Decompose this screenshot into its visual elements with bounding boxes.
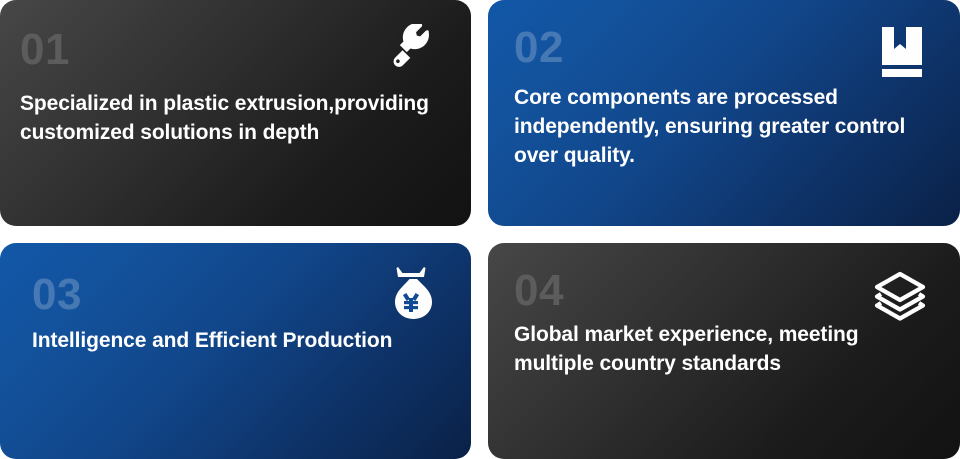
feature-card-03[interactable]: 03 Intelligence and Efficient Production xyxy=(0,243,471,459)
card-text-04: Global market experience, meeting multip… xyxy=(514,321,936,379)
card-text-01: Specialized in plastic extrusion,providi… xyxy=(20,90,440,148)
feature-card-04[interactable]: 04 Global market experience, meeting mul… xyxy=(488,243,960,459)
card-number-03: 03 xyxy=(32,273,447,317)
card-number-02: 02 xyxy=(514,26,936,70)
feature-card-01[interactable]: 01 Specialized in plastic extrusion,prov… xyxy=(0,0,471,226)
feature-card-grid: 01 Specialized in plastic extrusion,prov… xyxy=(0,0,960,459)
card-text-03: Intelligence and Efficient Production xyxy=(32,327,432,356)
card-text-02: Core components are processed independen… xyxy=(514,84,936,171)
card-number-01: 01 xyxy=(20,28,447,72)
feature-card-02[interactable]: 02 Core components are processed indepen… xyxy=(488,0,960,226)
card-number-04: 04 xyxy=(514,269,936,313)
